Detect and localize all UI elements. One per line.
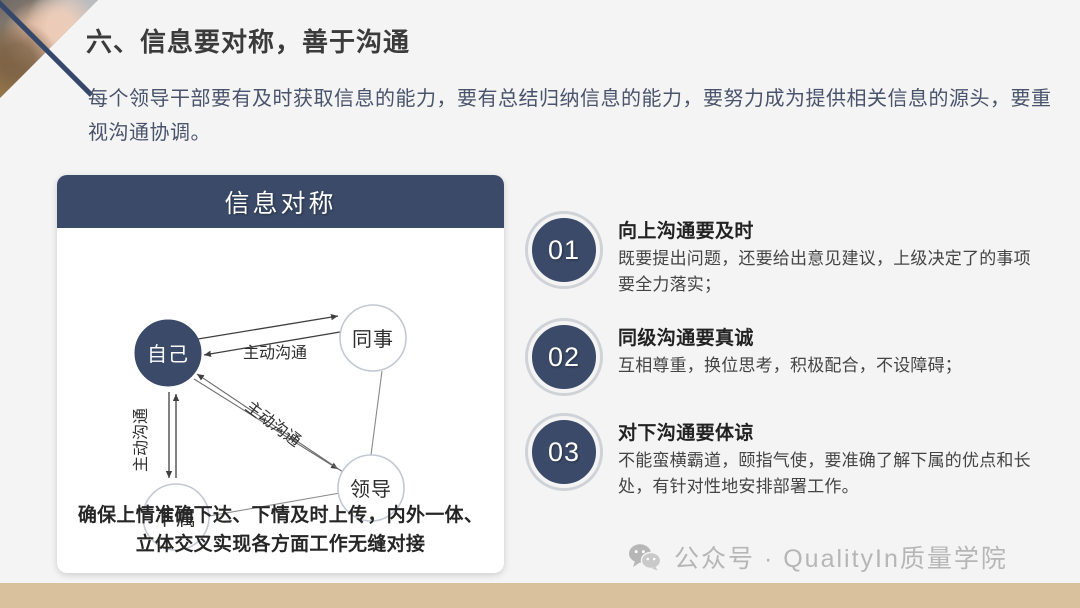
information-symmetry-card: 信息对称 — [57, 175, 504, 573]
node-peer-label: 同事 — [352, 328, 394, 351]
node-leader-label: 领导 — [350, 478, 392, 501]
footer-brand-text: 公众号 · QualityIn质量学院 — [674, 539, 1008, 575]
point-heading: 向上沟通要及时 — [618, 216, 1038, 243]
point-number-badge: 01 — [528, 214, 600, 286]
point-heading: 对下沟通要体谅 — [618, 418, 1038, 445]
diagram-node-peer[interactable]: 同事 — [340, 305, 406, 371]
point-description: 互相尊重，换位思考，积极配合，不设障碍； — [618, 353, 962, 379]
edge-label-self-subordinate: 主动沟通 — [132, 408, 150, 472]
edge-peer-to-leader — [371, 371, 382, 455]
footer-brand: 公众号 · QualityIn质量学院 — [628, 539, 1008, 575]
list-item[interactable]: 02 同级沟通要真诚 互相尊重，换位思考，积极配合，不设障碍； — [528, 321, 1056, 393]
point-heading: 同级沟通要真诚 — [618, 323, 962, 350]
point-content: 向上沟通要及时 既要提出问题，还要给出意见建议，上级决定了的事项要全力落实； — [618, 214, 1038, 298]
card-header-title: 信息对称 — [224, 184, 336, 220]
bottom-accent-bar — [0, 583, 1080, 608]
page-title: 六、信息要对称，善于沟通 — [86, 22, 410, 59]
card-caption: 确保上情准确下达、下情及时上传，内外一体、立体交叉实现各方面工作无缝对接 — [69, 501, 492, 559]
point-number-badge: 03 — [528, 416, 600, 488]
card-header: 信息对称 — [57, 175, 504, 228]
point-content: 对下沟通要体谅 不能蛮横霸道，颐指气使，要准确了解下属的优点和长处，有针对性地安… — [618, 416, 1038, 500]
point-description: 既要提出问题，还要给出意见建议，上级决定了的事项要全力落实； — [618, 246, 1038, 298]
wechat-icon — [628, 543, 662, 571]
node-self-label: 自己 — [147, 343, 189, 366]
point-description: 不能蛮横霸道，颐指气使，要准确了解下属的优点和长处，有针对性地安排部署工作。 — [618, 448, 1038, 500]
card-body: 自己 同事 领导 下属 主动沟通 主动沟通 主动沟通 — [57, 228, 504, 573]
slide-canvas: 六、信息要对称，善于沟通 每个领导干部要有及时获取信息的能力，要有总结归纳信息的… — [0, 0, 1080, 608]
edge-label-self-peer: 主动沟通 — [243, 344, 307, 362]
point-number-badge: 02 — [528, 321, 600, 393]
key-points-list: 01 向上沟通要及时 既要提出问题，还要给出意见建议，上级决定了的事项要全力落实… — [528, 214, 1056, 523]
point-content: 同级沟通要真诚 互相尊重，换位思考，积极配合，不设障碍； — [618, 321, 962, 379]
edge-label-self-leader: 主动沟通 — [242, 398, 304, 451]
page-subtitle: 每个领导干部要有及时获取信息的能力，要有总结归纳信息的能力，要努力成为提供相关信… — [88, 82, 1068, 150]
list-item[interactable]: 01 向上沟通要及时 既要提出问题，还要给出意见建议，上级决定了的事项要全力落实… — [528, 214, 1056, 298]
list-item[interactable]: 03 对下沟通要体谅 不能蛮横霸道，颐指气使，要准确了解下属的优点和长处，有针对… — [528, 416, 1056, 500]
diagram-node-self[interactable]: 自己 — [135, 320, 201, 386]
